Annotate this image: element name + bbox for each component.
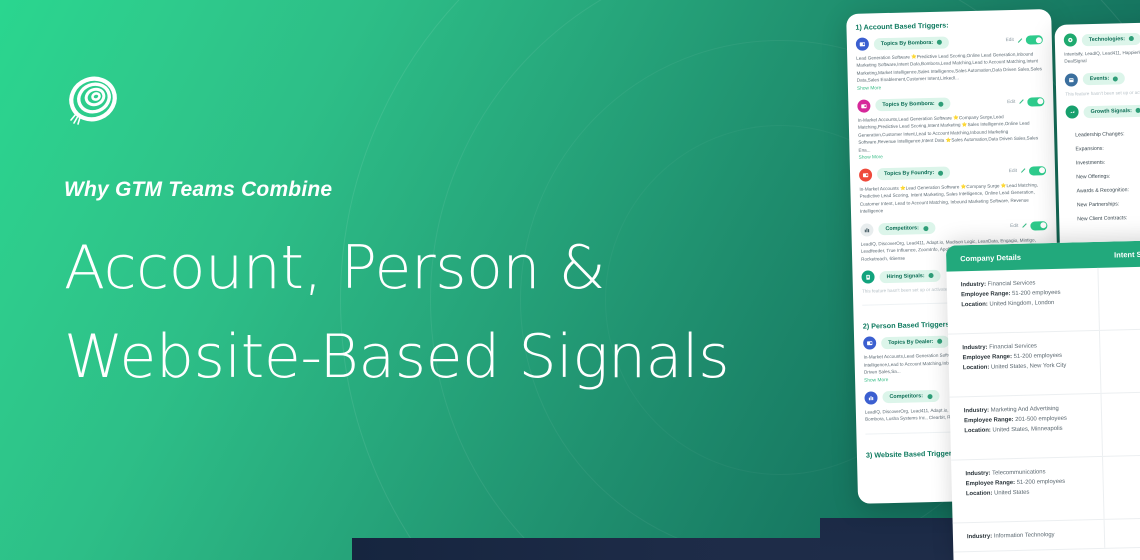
value-location: United Kingdom, London	[989, 300, 1054, 308]
chip-label: Topics By Bombora:	[882, 101, 934, 108]
edit-controls[interactable]: Edit	[1010, 221, 1047, 231]
chart-icon	[860, 223, 873, 236]
label-employee-range: Employee Range:	[963, 354, 1013, 361]
foundry-icon	[859, 168, 872, 181]
value-industry: Information Technology	[994, 532, 1055, 539]
chip-technologies[interactable]: Technologies:	[1082, 32, 1140, 45]
list-item[interactable]: New Client Contracts:	[1077, 214, 1140, 222]
label-industry: Industry:	[964, 408, 989, 415]
intent-signals-cell	[1102, 390, 1140, 456]
edit-label[interactable]: Edit	[1006, 38, 1014, 43]
value-location: United States, New York City	[991, 363, 1066, 371]
value-employee-range: 201-500 employees	[1015, 416, 1067, 423]
chip-label: Competitors:	[885, 225, 919, 232]
value-location: United States, Minneapolis	[992, 426, 1062, 434]
list-item[interactable]: New Offerings:	[1076, 172, 1140, 180]
value-industry: Financial Services	[989, 343, 1037, 350]
chip-label: Topics By Dealer:	[888, 339, 933, 346]
chip-label: Competitors:	[889, 393, 923, 400]
chip-topics-bombora-2[interactable]: Topics By Bombora:	[875, 98, 951, 112]
chip-competitors-person[interactable]: Competitors:	[882, 390, 939, 403]
label-employee-range: Employee Range:	[961, 291, 1011, 298]
chip-label: Topics By Foundry:	[884, 170, 934, 177]
info-icon[interactable]	[1113, 76, 1118, 81]
label-location: Location:	[963, 365, 990, 372]
side-block-header: Events:	[1065, 71, 1140, 87]
toggle-switch[interactable]	[1027, 97, 1044, 106]
info-icon[interactable]	[1129, 36, 1134, 41]
chip-growth-signals[interactable]: Growth Signals:	[1083, 104, 1140, 118]
toggle-switch[interactable]	[1026, 35, 1043, 44]
intent-signals-cell	[1105, 516, 1140, 548]
company-icon	[863, 337, 876, 350]
list-item[interactable]: Investments:	[1076, 158, 1140, 166]
trigger-body: Lead Generation Software ⭐Predictive Lea…	[856, 50, 1044, 84]
info-icon[interactable]	[923, 226, 928, 231]
pencil-icon[interactable]	[1021, 223, 1027, 229]
label-employee-range: Employee Range:	[964, 417, 1014, 424]
growth-signal-list: Leadership Changes: Expansions: Investme…	[1057, 128, 1140, 240]
company-details-cell: Industry: Marketing And Advertising Empl…	[950, 394, 1103, 460]
value-industry: Telecommunications	[992, 469, 1046, 476]
chip-label: Growth Signals:	[1091, 108, 1132, 115]
chip-label: Technologies:	[1089, 36, 1125, 43]
info-icon[interactable]	[929, 273, 934, 278]
info-icon[interactable]	[939, 101, 944, 106]
value-industry: Financial Services	[988, 280, 1036, 287]
chip-topics-foundry[interactable]: Topics By Foundry:	[877, 167, 950, 181]
edit-label[interactable]: Edit	[1007, 100, 1015, 105]
info-icon[interactable]	[938, 171, 943, 176]
table-row[interactable]: Industry: Marketing And Advertising Empl…	[950, 390, 1140, 460]
company-details-cell: Industry: Financial Services Employee Ra…	[948, 331, 1101, 397]
side-block-technologies[interactable]: Technologies: Intentsify, LeadIQ, Lead41…	[1054, 22, 1140, 74]
column-header-intent-signals: Intent Signals	[1098, 247, 1140, 260]
intent-signals-cell	[1103, 453, 1140, 519]
label-location: Location:	[966, 491, 993, 498]
trigger-block[interactable]: Topics By Bombora: Edit Lead Generation …	[847, 33, 1053, 100]
list-item[interactable]: Awards & Recognition:	[1076, 186, 1140, 194]
company-details-table: Company Details Intent Signals Industry:…	[946, 238, 1140, 560]
pencil-icon[interactable]	[1017, 37, 1023, 43]
label-industry: Industry:	[962, 345, 987, 352]
label-industry: Industry:	[961, 282, 986, 289]
value-industry: Marketing And Advertising	[991, 406, 1059, 414]
edit-label[interactable]: Edit	[1010, 224, 1018, 229]
info-icon[interactable]	[937, 40, 942, 45]
intent-signals-cell	[1100, 327, 1140, 393]
side-block-events[interactable]: Events: This feature hasn't been set up …	[1056, 71, 1140, 106]
growth-icon	[1065, 106, 1078, 119]
label-location: Location:	[961, 302, 988, 309]
label-employee-range: Employee Range:	[966, 480, 1016, 487]
contact-icon	[857, 99, 870, 112]
slide-canvas: Why GTM Teams Combine Account, Person & …	[0, 0, 1140, 560]
value-employee-range: 51-200 employees	[1017, 479, 1066, 486]
side-block-growth[interactable]: Growth Signals:	[1056, 103, 1140, 131]
value-location: United States	[994, 490, 1030, 497]
toggle-switch[interactable]	[1030, 221, 1047, 230]
chip-competitors[interactable]: Competitors:	[878, 222, 935, 235]
chip-label: Topics By Bombora:	[881, 39, 933, 46]
spiral-onion-logo-icon	[64, 74, 120, 130]
chip-topics-dealer[interactable]: Topics By Dealer:	[881, 335, 949, 349]
trigger-body: In-Market Accounts ⭐Lead Generation Soft…	[859, 181, 1047, 215]
chip-hiring-signals[interactable]: Hiring Signals:	[879, 269, 940, 282]
headline-line-1: Account, Person &	[64, 224, 804, 313]
side-block-header: Technologies:	[1064, 31, 1140, 47]
edit-controls[interactable]: Edit	[1007, 97, 1044, 107]
info-icon[interactable]	[927, 394, 932, 399]
company-icon	[856, 37, 869, 50]
info-icon[interactable]	[937, 339, 942, 344]
edit-controls[interactable]: Edit	[1009, 166, 1046, 176]
hero-block: Why GTM Teams Combine Account, Person & …	[64, 74, 804, 403]
info-icon[interactable]	[1136, 108, 1140, 113]
edit-controls[interactable]: Edit	[1005, 35, 1042, 45]
pencil-icon[interactable]	[1018, 99, 1024, 105]
company-details-cell: Industry: Financial Services Employee Ra…	[946, 268, 1099, 334]
edit-label[interactable]: Edit	[1009, 169, 1017, 174]
table-row[interactable]: Industry: Telecommunications Employee Ra…	[951, 453, 1140, 523]
side-block-header: Growth Signals:	[1065, 103, 1140, 119]
chip-label: Hiring Signals:	[887, 273, 925, 280]
side-block-body-empty: This feature hasn't been set up or activ…	[1065, 88, 1140, 98]
briefcase-icon	[861, 270, 874, 283]
trigger-block[interactable]: Topics By Bombora: Edit In-Market Accoun…	[848, 95, 1055, 169]
page-title: Account, Person & Website-Based Signals	[64, 224, 804, 403]
table-row[interactable]: Industry: Financial Services Employee Ra…	[946, 264, 1140, 334]
label-industry: Industry:	[965, 471, 990, 478]
signals-side-panel: Technologies: Intentsify, LeadIQ, Lead41…	[1054, 22, 1140, 265]
intent-signals-cell	[1098, 264, 1140, 330]
list-item[interactable]: Expansions:	[1075, 144, 1140, 152]
hero-eyebrow: Why GTM Teams Combine	[64, 178, 804, 202]
company-details-cell: Industry: Information Technology	[953, 520, 1106, 552]
side-block-body: Intentsify, LeadIQ, Lead411, Happierlead…	[1064, 48, 1140, 66]
trigger-body: In-Market Accounts,Lead Generation Softw…	[858, 112, 1046, 154]
list-item[interactable]: Leadership Changes:	[1075, 130, 1140, 138]
calendar-icon	[1065, 73, 1078, 86]
value-employee-range: 51-200 employees	[1014, 353, 1063, 360]
headline-line-2: Website-Based Signals	[64, 313, 804, 402]
toggle-switch[interactable]	[1029, 166, 1046, 175]
chip-events[interactable]: Events:	[1083, 73, 1126, 86]
pencil-icon[interactable]	[1020, 168, 1026, 174]
company-details-cell: Industry: Telecommunications Employee Ra…	[951, 457, 1104, 523]
table-row[interactable]: Industry: Financial Services Employee Ra…	[948, 327, 1140, 397]
tech-icon	[1064, 33, 1077, 46]
chip-label: Events:	[1090, 76, 1110, 82]
list-item[interactable]: New Partnerships:	[1077, 200, 1140, 208]
value-employee-range: 51-200 employees	[1012, 290, 1061, 297]
label-industry: Industry:	[967, 534, 992, 541]
chip-topics-bombora[interactable]: Topics By Bombora:	[874, 36, 950, 50]
trigger-block[interactable]: Topics By Foundry: Edit In-Market Accoun…	[850, 164, 1056, 224]
column-header-company-details: Company Details	[946, 250, 1098, 263]
chart-icon	[864, 391, 877, 404]
label-location: Location:	[964, 428, 991, 435]
app-mockup: 1) Account Based Triggers: Topics By Bom…	[846, 0, 1140, 560]
